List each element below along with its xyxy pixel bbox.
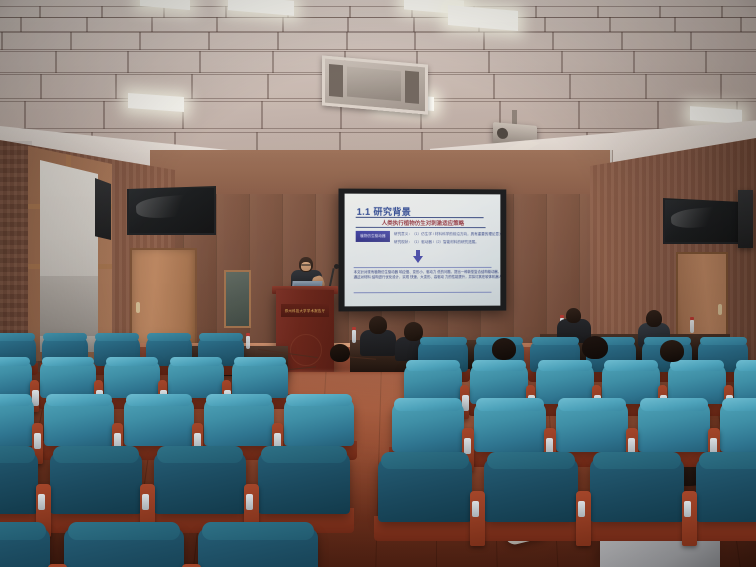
auditorium-seat[interactable] (590, 458, 684, 522)
slide-body-line-2: 通过对材料 结构进行优化设计，实现 快速、大变形、高驱动 力的性能提升，并探讨其… (354, 275, 492, 281)
projection-screen-frame: 1.1 研究背景 人类执行植物仿生对刺激适应策略 植物仿生驱动器 研究意义：（1… (338, 189, 506, 312)
ceiling-tile (552, 32, 623, 50)
microphone-head-icon (334, 264, 339, 269)
ceiling-tile (740, 17, 756, 32)
auditorium-seat[interactable] (720, 402, 756, 452)
bottle-cap (560, 315, 564, 318)
ceiling-tile (720, 74, 756, 99)
slide-badge: 植物仿生驱动器 (356, 231, 390, 242)
auditorium-seat[interactable] (204, 398, 274, 446)
audience-head (492, 338, 516, 360)
wall-monitor-left (127, 186, 216, 235)
auditorium-seat[interactable] (474, 402, 546, 452)
ceiling-tile (70, 32, 141, 50)
seat-armrest (682, 491, 697, 545)
slide-body-block: 本文针对现有植物仿生驱动器 响应慢、变形小、驱动力 低的问题，提出一种新型复合结… (354, 267, 492, 293)
auditorium-seat[interactable] (0, 360, 32, 398)
seat-armrest (576, 491, 591, 545)
auditorium-seat[interactable] (284, 398, 354, 446)
ceiling-tile (277, 32, 348, 50)
slide-line-2: 研究现状：（1）驱动器 /（2）智能材料的研究进展。 (394, 240, 479, 245)
ceiling-tile (86, 17, 153, 32)
auditorium-seat[interactable] (124, 398, 194, 446)
slide-divider (356, 227, 486, 228)
ceiling-tile (191, 74, 269, 99)
ceiling-tile (282, 17, 349, 32)
presenter-glasses-icon (301, 264, 311, 266)
ceiling-tile (40, 74, 118, 99)
ceiling-tile (690, 32, 756, 50)
ceiling-tile (578, 101, 659, 129)
wall-speaker-right (738, 190, 753, 248)
ceiling-tile (347, 17, 414, 32)
auditorium-seat[interactable] (168, 360, 224, 398)
auditorium-seat[interactable] (50, 452, 142, 514)
seat-armrest (470, 491, 485, 545)
auditorium-seat[interactable] (44, 398, 114, 446)
podium-nameplate-text: 郑州科技大学学术报告厅 (285, 308, 326, 313)
audience-head (330, 344, 350, 362)
ceiling-tile (609, 17, 676, 32)
ceiling-tile (674, 17, 741, 32)
auditorium-seat[interactable] (638, 402, 710, 452)
ceiling-tile (216, 17, 283, 32)
conference-hall-photo: 1.1 研究背景 人类执行植物仿生对刺激适应策略 植物仿生驱动器 研究意义：（1… (0, 0, 756, 567)
ceiling-tile (705, 51, 756, 73)
auditorium-seat[interactable] (484, 458, 578, 522)
auditorium-seat[interactable] (696, 458, 756, 522)
wall-window-panel (224, 270, 251, 328)
auditorium-seat[interactable] (258, 452, 350, 514)
presentation-slide: 1.1 研究背景 人类执行植物仿生对刺激适应策略 植物仿生驱动器 研究意义：（1… (345, 194, 501, 307)
water-bottle (246, 336, 250, 349)
auditorium-seat[interactable] (232, 360, 288, 398)
water-bottle (352, 330, 356, 343)
bottle-cap (690, 317, 694, 320)
ceiling-tile (0, 101, 26, 129)
ceiling-tile (418, 74, 496, 99)
ceiling-tile (127, 51, 201, 73)
ceiling-tile (199, 51, 273, 73)
ceiling-tile (139, 32, 210, 50)
back-wall-upper-band (150, 150, 610, 194)
auditorium-seat[interactable] (556, 402, 628, 452)
ceiling-tile (621, 32, 692, 50)
slide-line-1: 研究意义：（1）仿生学 / 材料科学的前沿方向，具有重要的理论意义和应用价值。 (394, 232, 500, 237)
podium-emblem (290, 334, 322, 366)
auditorium-seat[interactable] (64, 528, 184, 567)
ceiling-tile (488, 51, 562, 73)
ceiling-tile (483, 32, 554, 50)
ceiling-tile (633, 51, 707, 73)
wall-monitor-right (663, 198, 742, 244)
ceiling-tile (561, 51, 635, 73)
attendee-head (369, 316, 387, 334)
audience-head (660, 340, 684, 362)
audience-head (582, 336, 608, 359)
ceiling-tile (24, 101, 105, 129)
ceiling-tile (569, 74, 647, 99)
auditorium-seat[interactable] (40, 360, 96, 398)
ceiling-tile (493, 74, 571, 99)
ceiling-tile (414, 32, 485, 50)
slide-down-arrow-icon (413, 256, 423, 263)
ceiling-tile (0, 17, 22, 32)
attendee-head (566, 308, 581, 323)
window-blind (40, 276, 98, 336)
bottle-cap (352, 327, 356, 330)
ceiling-tile (208, 32, 279, 50)
ceiling-tile (544, 17, 611, 32)
ceiling-tile (346, 32, 417, 50)
auditorium-seat[interactable] (378, 458, 472, 522)
water-bottle (690, 320, 694, 333)
auditorium-seat[interactable] (0, 528, 50, 567)
attendee-head (646, 310, 662, 327)
auditorium-seat[interactable] (154, 452, 246, 514)
auditorium-seat[interactable] (392, 402, 464, 452)
auditorium-seat[interactable] (198, 528, 318, 567)
ceiling-tile (0, 74, 42, 99)
ceiling-tile (182, 101, 263, 129)
ceiling-tile (151, 17, 218, 32)
auditorium-seat[interactable] (104, 360, 160, 398)
ceiling-tile (0, 51, 57, 73)
ceiling-tile (55, 51, 129, 73)
ceiling-tile (645, 74, 723, 99)
bottle-cap (246, 333, 250, 336)
wall-speaker-left (95, 178, 111, 240)
ceiling-tile (20, 17, 87, 32)
air-conditioning-vent-icon (322, 55, 428, 114)
auditorium-seat[interactable] (0, 452, 38, 514)
projection-screen: 1.1 研究背景 人类执行植物仿生对刺激适应策略 植物仿生驱动器 研究意义：（1… (345, 194, 501, 307)
podium-nameplate: 郑州科技大学学术报告厅 (281, 304, 329, 317)
auditorium-seat[interactable] (0, 398, 34, 446)
ceiling-tile (1, 32, 72, 50)
